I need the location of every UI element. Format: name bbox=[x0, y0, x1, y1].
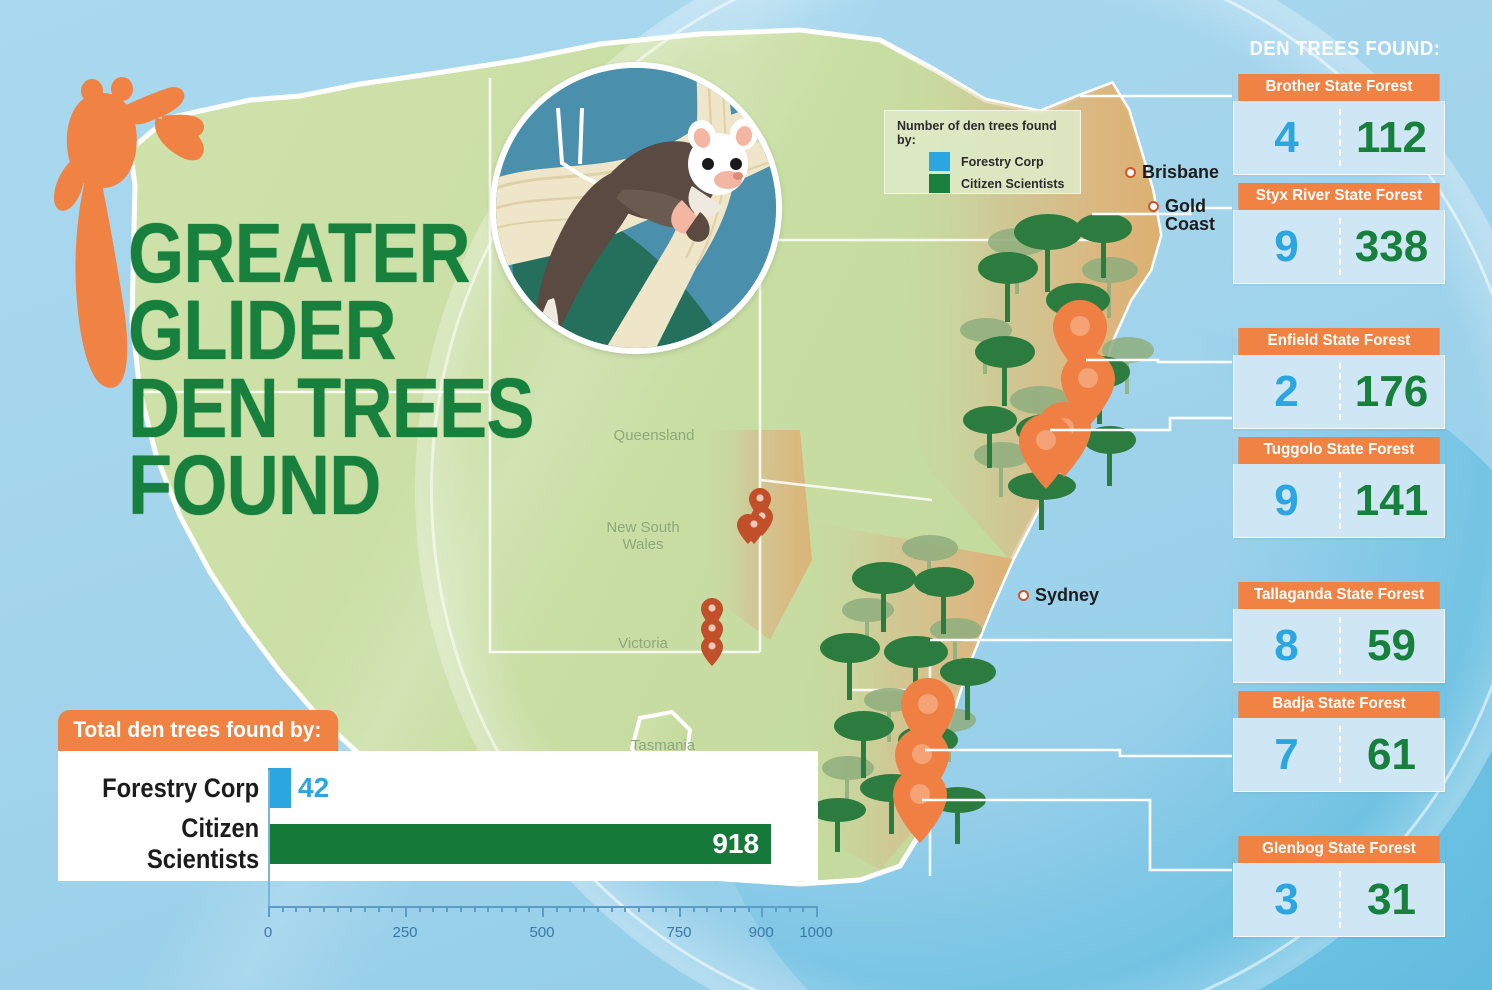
axis-tick-minor bbox=[474, 906, 476, 912]
greater-glider-illustration-icon bbox=[490, 62, 782, 354]
infographic-canvas: GREATER GLIDER DEN TREES FOUND bbox=[0, 0, 1492, 990]
citizen-scientists-count: 176 bbox=[1339, 370, 1444, 414]
chart-panel: Forestry Corp 42 Citizen Scientists 918 bbox=[58, 751, 818, 881]
axis-tick-label: 0 bbox=[264, 924, 272, 941]
forest-card-title: Brother State Forest bbox=[1238, 74, 1439, 101]
forestry-corp-count: 9 bbox=[1234, 479, 1339, 523]
forest-card-body: 761 bbox=[1233, 718, 1445, 792]
axis-tick-minor bbox=[295, 906, 297, 912]
axis-tick-minor bbox=[432, 906, 434, 912]
bar-area: 42 bbox=[268, 760, 818, 816]
axis-tick-minor bbox=[337, 906, 339, 912]
forestry-corp-count: 8 bbox=[1234, 624, 1339, 668]
city-label-sydney: Sydney bbox=[1018, 586, 1099, 604]
bar-label-citizen-scientists: Citizen Scientists bbox=[83, 813, 268, 875]
city-name: Sydney bbox=[1035, 586, 1099, 604]
forest-card: Styx River State Forest9338 bbox=[1233, 183, 1445, 284]
city-dot-icon bbox=[1148, 201, 1159, 212]
bar-citizen-scientists: 918 bbox=[268, 824, 771, 864]
axis-tick-minor bbox=[652, 906, 654, 912]
axis-tick-minor bbox=[323, 906, 325, 912]
city-dot-icon bbox=[1018, 590, 1029, 601]
axis-tick-minor bbox=[569, 906, 571, 912]
axis-tick-minor bbox=[597, 906, 599, 912]
den-trees-found-heading: DEN TREES FOUND: bbox=[1249, 38, 1440, 61]
citizen-scientists-count: 61 bbox=[1339, 733, 1444, 777]
axis-tick-minor bbox=[556, 906, 558, 912]
forest-card-title: Styx River State Forest bbox=[1238, 183, 1439, 210]
axis-tick-major bbox=[761, 906, 763, 917]
axis-tick-minor bbox=[350, 906, 352, 912]
axis-tick-minor bbox=[720, 906, 722, 912]
legend-item-citizen-scientists: Citizen Scientists bbox=[929, 174, 1070, 193]
axis-tick-label: 500 bbox=[529, 924, 554, 941]
bar-value-citizen-scientists: 918 bbox=[712, 830, 759, 858]
forest-card: Badja State Forest761 bbox=[1233, 691, 1445, 792]
forestry-corp-count: 2 bbox=[1234, 370, 1339, 414]
city-dot-icon bbox=[1125, 167, 1136, 178]
axis-tick-minor bbox=[706, 906, 708, 912]
legend-swatch-green bbox=[929, 174, 950, 193]
total-den-trees-chart: Total den trees found by: Forestry Corp … bbox=[58, 710, 818, 881]
axis-tick-major bbox=[405, 906, 407, 917]
legend-item-forestry-corp: Forestry Corp bbox=[929, 152, 1070, 171]
axis-tick-minor bbox=[391, 906, 393, 912]
bar-row-forestry-corp: Forestry Corp 42 bbox=[58, 760, 818, 816]
axis-tick-major bbox=[542, 906, 544, 917]
citizen-scientists-count: 338 bbox=[1339, 225, 1444, 269]
bar-forestry-corp bbox=[268, 768, 291, 808]
forest-card-title: Enfield State Forest bbox=[1238, 328, 1439, 355]
axis-tick-minor bbox=[734, 906, 736, 912]
citizen-scientists-count: 59 bbox=[1339, 624, 1444, 668]
forest-card-body: 4112 bbox=[1233, 101, 1445, 175]
forestry-corp-count: 7 bbox=[1234, 733, 1339, 777]
axis-tick-major bbox=[268, 906, 270, 917]
axis-tick-label: 1000 bbox=[799, 924, 832, 941]
axis-tick-minor bbox=[748, 906, 750, 912]
axis-tick-minor bbox=[611, 906, 613, 912]
state-label-victoria: Victoria bbox=[598, 636, 688, 653]
axis-tick-minor bbox=[364, 906, 366, 912]
forest-card: Tuggolo State Forest9141 bbox=[1233, 437, 1445, 538]
axis-tick-minor bbox=[378, 906, 380, 912]
bar-row-citizen-scientists: Citizen Scientists 918 bbox=[58, 816, 818, 872]
axis-tick-minor bbox=[665, 906, 667, 912]
forestry-corp-count: 9 bbox=[1234, 225, 1339, 269]
axis-tick-minor bbox=[528, 906, 530, 912]
chart-title: Total den trees found by: bbox=[58, 710, 338, 751]
forest-card-body: 9141 bbox=[1233, 464, 1445, 538]
forest-card: Enfield State Forest2176 bbox=[1233, 328, 1445, 429]
axis-tick-label: 900 bbox=[749, 924, 774, 941]
axis-tick-minor bbox=[501, 906, 503, 912]
map-legend-title: Number of den trees found by: bbox=[897, 119, 1070, 147]
axis-tick-minor bbox=[460, 906, 462, 912]
city-name: Gold Coast bbox=[1165, 197, 1215, 234]
chart-x-axis: 02505007509001000 bbox=[268, 906, 816, 950]
axis-tick-minor bbox=[583, 906, 585, 912]
forest-card: Glenbog State Forest331 bbox=[1233, 836, 1445, 937]
forest-card-body: 859 bbox=[1233, 609, 1445, 683]
forest-card-title: Tallaganda State Forest bbox=[1238, 582, 1439, 609]
greater-glider-silhouette-icon bbox=[52, 58, 237, 408]
state-label-new-south-wales: New South Wales bbox=[588, 520, 698, 554]
axis-tick-minor bbox=[419, 906, 421, 912]
forest-card-body: 9338 bbox=[1233, 210, 1445, 284]
forestry-corp-count: 4 bbox=[1234, 116, 1339, 160]
chart-baseline bbox=[268, 770, 270, 910]
citizen-scientists-count: 141 bbox=[1339, 479, 1444, 523]
citizen-scientists-count: 112 bbox=[1339, 116, 1444, 160]
legend-swatch-blue bbox=[929, 152, 950, 171]
map-legend: Number of den trees found by: Forestry C… bbox=[884, 110, 1081, 194]
city-label-gold-coast: Gold Coast bbox=[1148, 197, 1215, 234]
axis-tick-minor bbox=[789, 906, 791, 912]
axis-tick-minor bbox=[446, 906, 448, 912]
axis-tick-minor bbox=[487, 906, 489, 912]
forest-card-title: Tuggolo State Forest bbox=[1238, 437, 1439, 464]
forest-card-body: 331 bbox=[1233, 863, 1445, 937]
axis-tick-major bbox=[679, 906, 681, 917]
axis-tick-major bbox=[816, 906, 818, 917]
city-label-brisbane: Brisbane bbox=[1125, 163, 1219, 181]
forest-card-list: Brother State Forest4112Styx River State… bbox=[1233, 74, 1445, 945]
bar-value-forestry-corp: 42 bbox=[298, 774, 329, 802]
axis-tick-minor bbox=[638, 906, 640, 912]
forestry-corp-count: 3 bbox=[1234, 878, 1339, 922]
forest-card-body: 2176 bbox=[1233, 355, 1445, 429]
axis-tick-minor bbox=[802, 906, 804, 912]
legend-label-citizen-scientists: Citizen Scientists bbox=[961, 177, 1065, 191]
forest-card: Tallaganda State Forest859 bbox=[1233, 582, 1445, 683]
city-name: Brisbane bbox=[1142, 163, 1219, 181]
bar-area: 918 bbox=[268, 816, 818, 872]
axis-tick-minor bbox=[282, 906, 284, 912]
axis-tick-minor bbox=[515, 906, 517, 912]
axis-tick-label: 250 bbox=[392, 924, 417, 941]
axis-tick-minor bbox=[309, 906, 311, 912]
axis-tick-minor bbox=[624, 906, 626, 912]
axis-tick-minor bbox=[775, 906, 777, 912]
axis-tick-minor bbox=[693, 906, 695, 912]
forest-card: Brother State Forest4112 bbox=[1233, 74, 1445, 175]
state-label-queensland: Queensland bbox=[594, 428, 714, 445]
forest-card-title: Glenbog State Forest bbox=[1238, 836, 1439, 863]
citizen-scientists-count: 31 bbox=[1339, 878, 1444, 922]
legend-label-forestry-corp: Forestry Corp bbox=[961, 155, 1044, 169]
forest-card-title: Badja State Forest bbox=[1238, 691, 1439, 718]
bar-label-forestry-corp: Forestry Corp bbox=[83, 773, 268, 804]
axis-tick-label: 750 bbox=[666, 924, 691, 941]
